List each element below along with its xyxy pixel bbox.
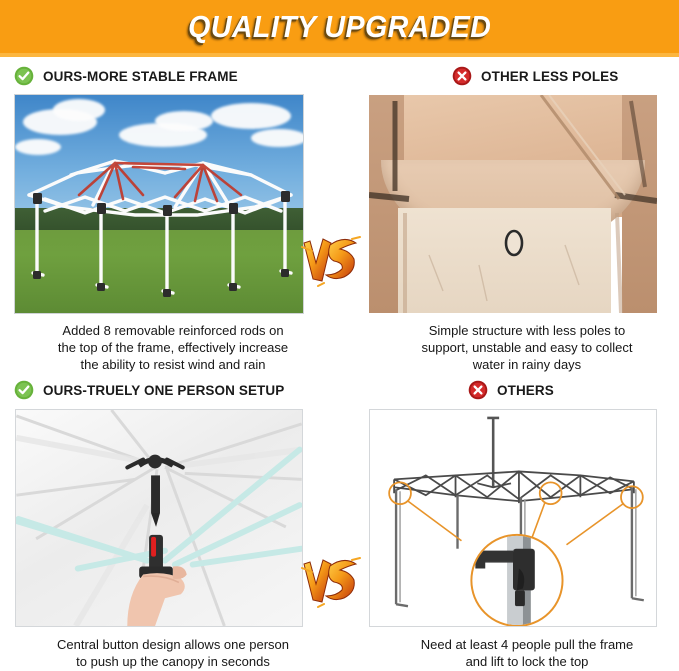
cell-title: OTHERS xyxy=(497,383,554,398)
cell-header: OTHER LESS POLES xyxy=(360,63,679,89)
photo-other-less-poles xyxy=(369,95,657,313)
green-check-circle-icon xyxy=(14,66,34,86)
cell-title: OURS-TRUELY ONE PERSON SETUP xyxy=(43,383,284,398)
photo-others-frame-diagram xyxy=(369,409,657,627)
comparison-grid: OURS-MORE STABLE FRAME xyxy=(0,57,679,671)
cell-other-less-poles: OTHER LESS POLES xyxy=(360,63,679,373)
cell-others-four-people: OTHERS xyxy=(360,377,679,670)
red-x-circle-icon xyxy=(468,380,488,400)
cell-header: OURS-TRUELY ONE PERSON SETUP xyxy=(6,377,340,403)
caption-line: Need at least 4 people pull the frame xyxy=(367,636,679,653)
caption-line: the top of the frame, effectively increa… xyxy=(13,339,333,356)
photo-one-person-setup xyxy=(15,409,303,627)
cell-caption: Need at least 4 people pull the frame an… xyxy=(367,636,679,670)
cell-header: OURS-MORE STABLE FRAME xyxy=(6,63,340,89)
vs-flame-badge-top xyxy=(300,233,362,287)
cell-ours-stable-frame: OURS-MORE STABLE FRAME xyxy=(6,63,340,373)
cell-title: OTHER LESS POLES xyxy=(481,69,618,84)
red-x-circle-icon xyxy=(452,66,472,86)
cell-caption: Simple structure with less poles to supp… xyxy=(367,322,679,373)
header-banner: QUALITY UPGRADED xyxy=(0,0,679,53)
caption-line: Added 8 removable reinforced rods on xyxy=(13,322,333,339)
center-button-illustration xyxy=(16,410,302,626)
cell-caption: Added 8 removable reinforced rods on the… xyxy=(13,322,333,373)
caption-line: support, unstable and easy to collect xyxy=(367,339,679,356)
vs-flame-badge-bottom xyxy=(300,554,362,608)
photo-ours-stable-frame xyxy=(15,95,303,313)
caption-line: and lift to lock the top xyxy=(367,653,679,670)
caption-line: to push up the canopy in seconds xyxy=(13,653,333,670)
cell-title: OURS-MORE STABLE FRAME xyxy=(43,69,238,84)
caption-line: Central button design allows one person xyxy=(13,636,333,653)
caption-line: the ability to resist wind and rain xyxy=(13,356,333,373)
cell-caption: Central button design allows one person … xyxy=(13,636,333,670)
canopy-detail-lines xyxy=(369,95,657,313)
caption-line: water in rainy days xyxy=(367,356,679,373)
page-title: QUALITY UPGRADED xyxy=(188,9,491,45)
canopy-frame-illustration xyxy=(15,95,303,313)
cell-header: OTHERS xyxy=(360,377,679,403)
frame-lock-diagram xyxy=(370,410,656,626)
cell-ours-one-person-setup: OURS-TRUELY ONE PERSON SETUP xyxy=(6,377,340,670)
green-check-circle-icon xyxy=(14,380,34,400)
caption-line: Simple structure with less poles to xyxy=(367,322,679,339)
